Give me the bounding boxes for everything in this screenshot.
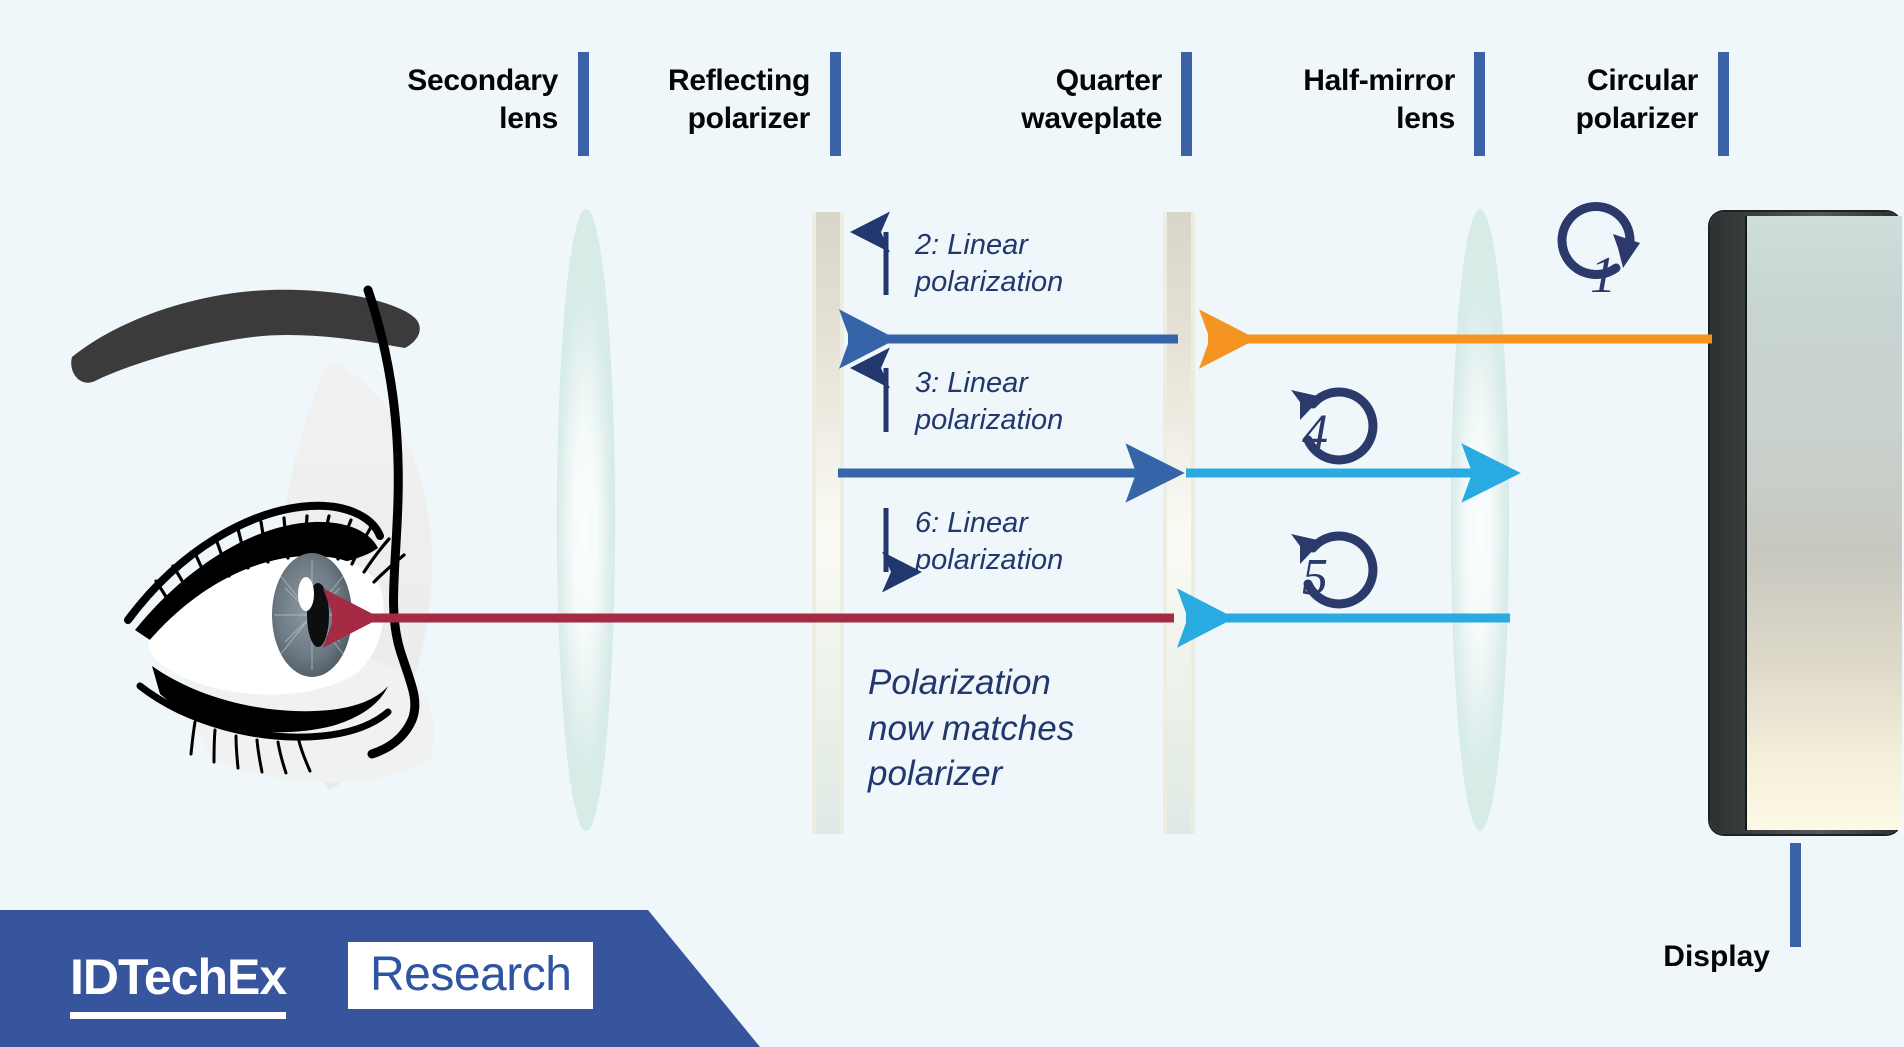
label-reflecting-polarizer: Reflecting polarizer: [520, 62, 810, 138]
label-quarter-waveplate: Quarter waveplate: [880, 62, 1162, 138]
label-circular-polarizer: Circular polarizer: [1440, 62, 1698, 138]
tick-quarter-waveplate: [1181, 52, 1192, 156]
logo-product-box: Research: [348, 942, 593, 1009]
annotation-step-2: 2: Linear polarization: [915, 227, 1165, 301]
idtechex-logo-banner: IDTechEx Research: [0, 910, 760, 1047]
annotation-step-3: 3: Linear polarization: [915, 365, 1165, 439]
logo-brand-text: IDTechEx: [70, 948, 286, 1019]
tick-reflecting-polarizer: [830, 52, 841, 156]
diagram-canvas: Secondary lens Reflecting polarizer Quar…: [0, 0, 1904, 1047]
circular-marker-5: 5: [1291, 534, 1373, 606]
label-display: Display: [1560, 940, 1770, 974]
tick-display: [1790, 843, 1801, 947]
circular-marker-4: 4: [1291, 390, 1373, 462]
annotation-step-6: 6: Linear polarization: [915, 505, 1165, 579]
secondary-lens-element: [558, 210, 614, 830]
logo-product-text: Research: [370, 948, 571, 1001]
circular-marker-1: 1: [1562, 207, 1640, 304]
eye-illustration: [71, 290, 434, 790]
display-screen: [1745, 216, 1902, 830]
reflecting-polarizer-element: [812, 212, 844, 834]
svg-text:5: 5: [1302, 549, 1328, 606]
svg-text:4: 4: [1302, 405, 1328, 462]
tick-circular-polarizer: [1718, 52, 1729, 156]
annotation-polarization-note: Polarization now matches polarizer: [868, 660, 1168, 797]
half-mirror-lens-element: [1452, 210, 1508, 830]
label-half-mirror-lens: Half-mirror lens: [1205, 62, 1455, 138]
svg-text:1: 1: [1590, 247, 1616, 304]
